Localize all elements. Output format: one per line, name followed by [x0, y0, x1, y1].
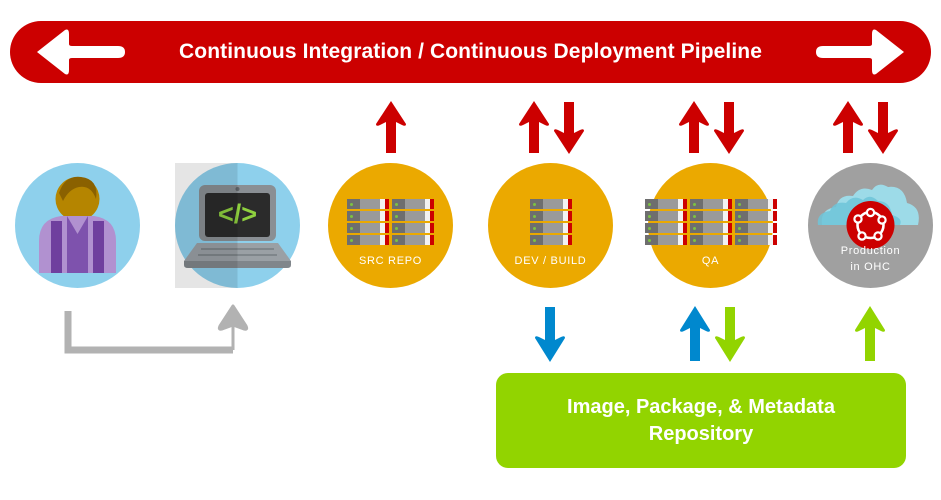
repository-label-line1: Image, Package, & Metadata: [567, 394, 835, 421]
cicd-pipeline-diagram: Continuous Integration / Continuous Depl…: [0, 0, 941, 500]
server-rack-icon: [347, 199, 434, 245]
qa-down-arrow: [713, 100, 745, 155]
qa-from-repo-up-arrow: [679, 305, 711, 363]
dev-build-up-arrow: [518, 100, 550, 155]
page-title: Continuous Integration / Continuous Depl…: [179, 40, 762, 64]
node-label-src-repo: SRC REPO: [328, 255, 453, 268]
node-label-production-line2: in OHC: [808, 261, 933, 274]
laptop-code-icon: </>: [175, 163, 300, 288]
production-down-arrow: [867, 100, 899, 155]
node-workstation[interactable]: </>: [175, 163, 300, 288]
node-dev-build[interactable]: DEV / BUILD: [488, 163, 613, 288]
qa-up-arrow: [678, 100, 710, 155]
dev-build-to-repo-down-arrow: [534, 305, 566, 363]
production-from-repo-up-arrow: [854, 305, 886, 363]
production-up-arrow: [832, 100, 864, 155]
repository-label: Image, Package, & Metadata Repository: [567, 394, 835, 448]
developer-to-workstation-arrow: [62, 303, 252, 358]
person-icon: [15, 163, 140, 288]
node-label-dev-build: DEV / BUILD: [488, 255, 613, 268]
server-rack-icon: [530, 199, 572, 245]
node-developer[interactable]: [15, 163, 140, 288]
node-label-qa: QA: [648, 255, 773, 268]
arrow-left-icon: [35, 29, 127, 75]
node-qa[interactable]: QA: [648, 163, 773, 288]
node-label-production-line1: Production: [808, 245, 933, 258]
arrow-right-icon: [814, 29, 906, 75]
src-repo-up-arrow: [375, 100, 407, 155]
repository-label-line2: Repository: [567, 421, 835, 448]
server-rack-icon: [645, 199, 777, 245]
repository-box[interactable]: Image, Package, & Metadata Repository: [496, 373, 906, 468]
pipeline-banner: Continuous Integration / Continuous Depl…: [10, 21, 931, 83]
node-src-repo[interactable]: SRC REPO: [328, 163, 453, 288]
dev-build-down-arrow: [553, 100, 585, 155]
node-production[interactable]: Production in OHC: [808, 163, 933, 288]
qa-to-repo-down-arrow: [714, 305, 746, 363]
